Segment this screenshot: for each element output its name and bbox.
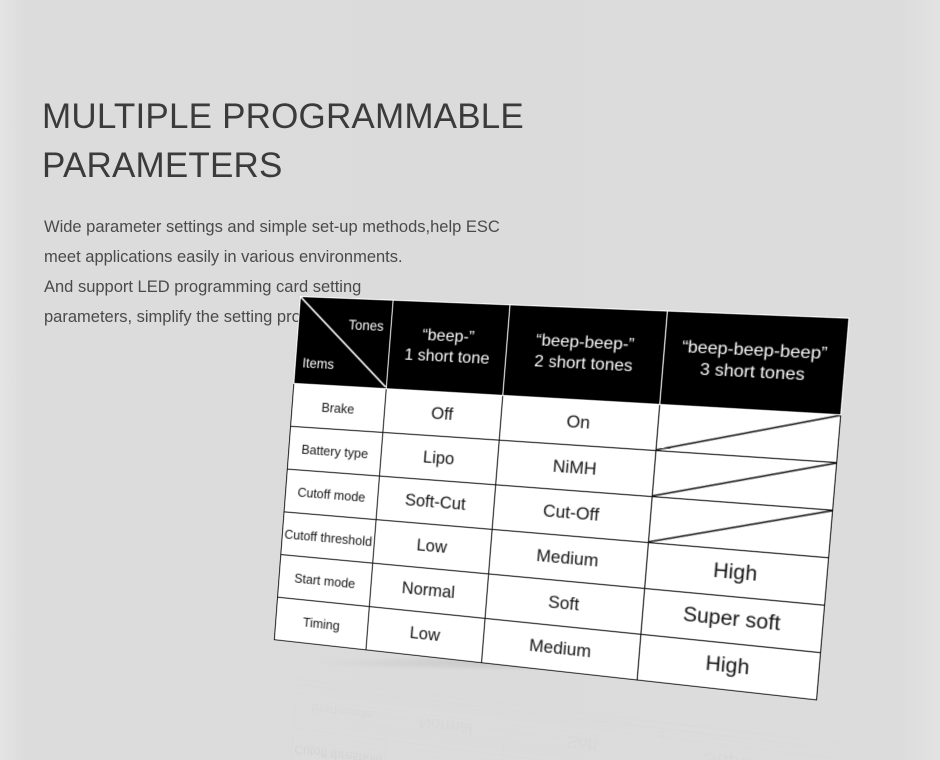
page-title: MULTIPLE PROGRAMMABLE PARAMETERS bbox=[42, 92, 642, 190]
description-line-1: Wide parameter settings and simple set-u… bbox=[44, 212, 664, 242]
reflection-cell-4-2: Soft bbox=[503, 710, 664, 760]
diagonal-slash-icon bbox=[294, 297, 392, 387]
reflection-cell-4-1: Normal bbox=[386, 696, 506, 755]
column-header-3-beep-beep-beep: “beep-beep-beep” 3 short tones bbox=[660, 311, 849, 415]
reflection-cell-3-1: Low bbox=[383, 740, 503, 760]
table-corner-cell: Tones Items bbox=[294, 297, 393, 389]
corner-label-items: Items bbox=[302, 353, 335, 375]
page-title-line-1: MULTIPLE PROGRAMMABLE bbox=[42, 92, 642, 141]
parameters-table-stage: Tones Items “beep-” 1 short tone “beep-b… bbox=[300, 270, 860, 760]
page-title-line-2: PARAMETERS bbox=[42, 141, 642, 190]
reflection-table-row: Cutoff thresholdLowMediumHigh bbox=[291, 728, 841, 760]
row-header-2: Cutoff mode bbox=[284, 469, 379, 520]
table-body: BrakeOffOnBattery typeLipoNiMHCutoff mod… bbox=[274, 383, 841, 700]
cell-0-1: Off bbox=[383, 389, 503, 440]
empty-cell-slash-icon bbox=[657, 405, 841, 462]
reflection-row-header-3: Cutoff threshold bbox=[291, 728, 387, 760]
column-header-2-beep-beep: “beep-beep-” 2 short tones bbox=[503, 305, 668, 405]
slide-canvas: MULTIPLE PROGRAMMABLE PARAMETERS Wide pa… bbox=[0, 0, 940, 760]
reflection-cell-3-2: Medium bbox=[499, 755, 660, 760]
cell-1-3 bbox=[652, 451, 837, 511]
empty-cell-slash-icon bbox=[653, 451, 836, 509]
reflection-cell-4-3: Super soft bbox=[660, 729, 845, 760]
column-header-1-count: 1 short tone bbox=[389, 345, 506, 371]
row-header-0: Brake bbox=[291, 383, 387, 432]
row-header-1: Battery type bbox=[287, 426, 383, 476]
corner-label-tones: Tones bbox=[348, 315, 385, 337]
row-header-5: Timing bbox=[274, 597, 369, 650]
reflection-row-header-4: Start mode bbox=[294, 685, 390, 740]
reflection-table-row: Start modeNormalSoftSuper soft bbox=[294, 685, 845, 760]
description-line-2: meet applications easily in various envi… bbox=[44, 242, 664, 272]
parameters-table: Tones Items “beep-” 1 short tone “beep-b… bbox=[274, 296, 849, 701]
column-header-1-beep: “beep-” 1 short tone bbox=[386, 300, 510, 395]
